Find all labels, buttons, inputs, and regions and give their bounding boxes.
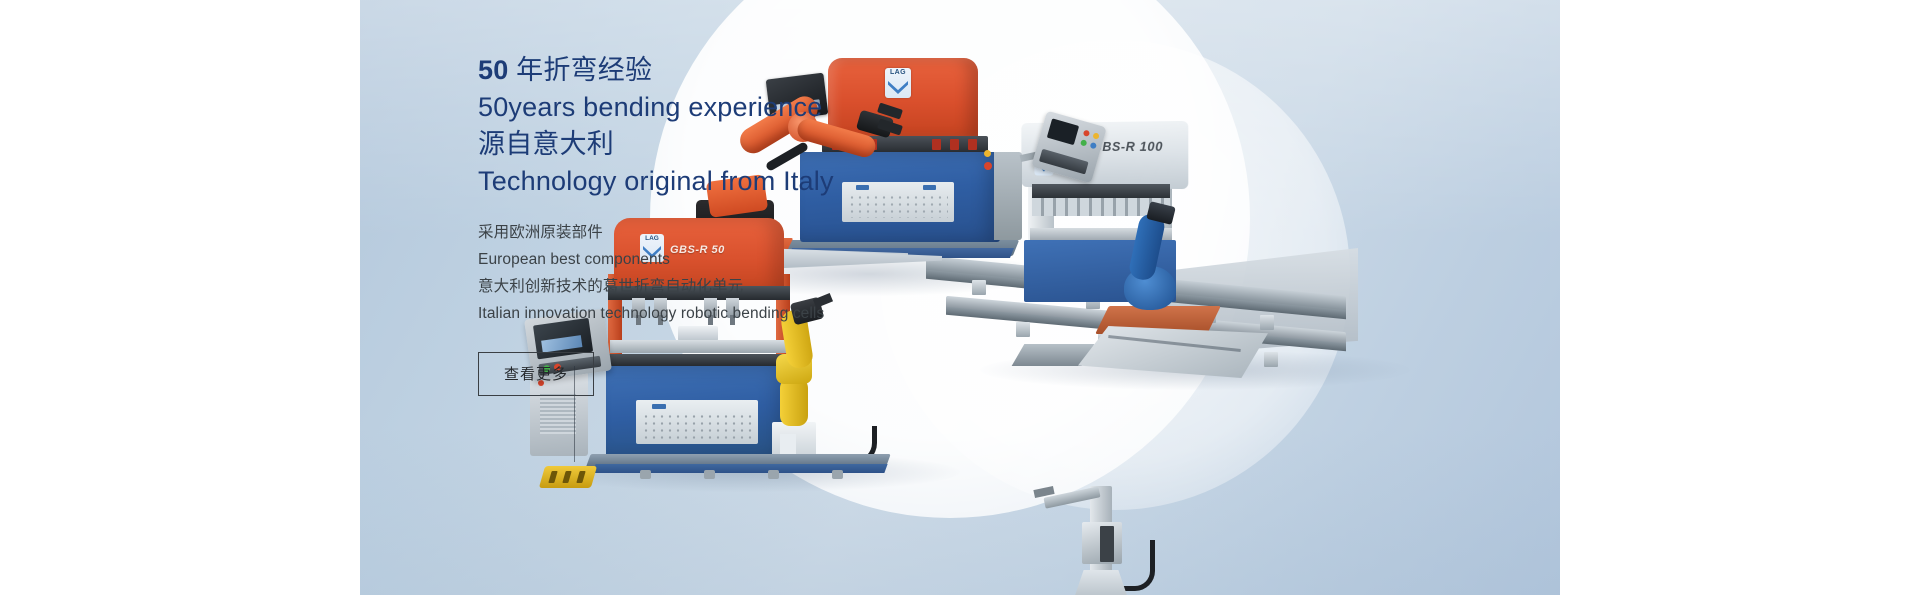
pedal-slot	[576, 471, 585, 483]
banner-copy-block: 50 年折弯经验 50years bending experience 源自意大…	[478, 52, 998, 396]
subtext-line-3: 意大利创新技术的葛世折弯自动化单元	[478, 273, 998, 300]
headline-line-3: 源自意大利	[478, 126, 998, 163]
banner-stage: GBS-R 100	[0, 0, 1920, 595]
subtext-group: 采用欧洲原装部件 European best components 意大利创新技…	[478, 219, 998, 327]
headline-line-1: 50 年折弯经验	[478, 52, 998, 89]
headline-number: 50	[478, 55, 508, 85]
manipulator-slide	[1100, 526, 1114, 562]
leveling-foot	[704, 470, 715, 479]
leveling-foot	[768, 470, 779, 479]
pedal-slot	[548, 471, 557, 483]
headline-line-4: Technology original from Italy	[478, 163, 998, 200]
subtext-line-2: European best components	[478, 246, 998, 273]
view-more-button[interactable]: 查看更多	[478, 352, 594, 396]
cabinet-vent	[540, 394, 576, 434]
pedal-slot	[562, 471, 571, 483]
manipulator-base	[1070, 570, 1132, 595]
leveling-foot	[640, 470, 651, 479]
hero-banner: GBS-R 100	[360, 0, 1560, 595]
headline-group: 50 年折弯经验 50years bending experience 源自意大…	[478, 52, 998, 200]
hydraulic-hose	[1114, 540, 1155, 591]
yellow-foot-pedal	[539, 466, 597, 488]
subtext-line-1: 采用欧洲原装部件	[478, 219, 998, 246]
headline-line-1-text: 年折弯经验	[508, 55, 652, 85]
headline-line-2: 50years bending experience	[478, 89, 998, 126]
vent-tab	[652, 404, 666, 409]
manipulator-housing	[1082, 522, 1122, 564]
subtext-line-4: Italian innovation technology robotic be…	[478, 300, 998, 327]
